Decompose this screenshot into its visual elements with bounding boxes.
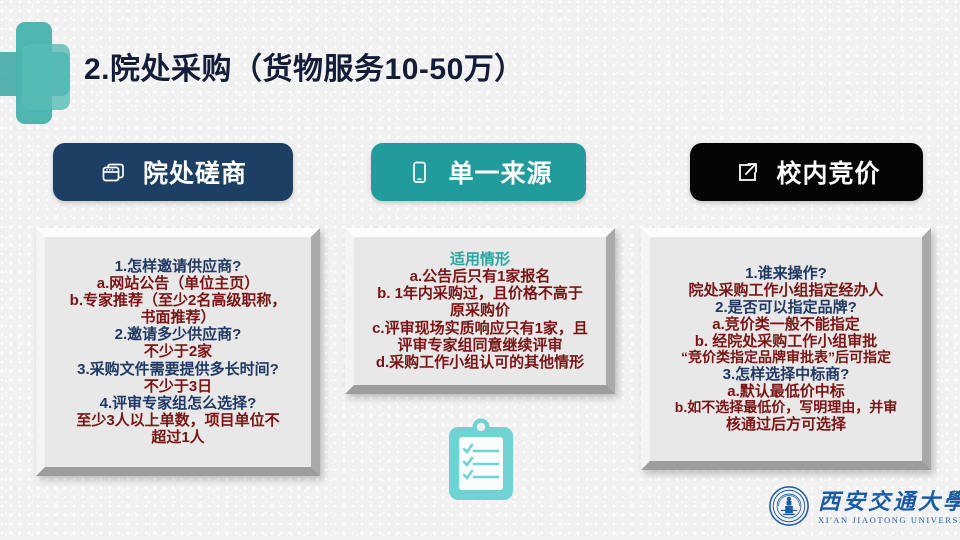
decoration-square: [22, 44, 70, 110]
panel-line: 院处采购工作小组指定经办人: [653, 282, 919, 299]
panel-line: 2.是否可以指定品牌?: [653, 299, 919, 316]
browser-windows-icon: [99, 157, 129, 187]
logo-chinese-name: 西安交通大學: [818, 491, 960, 513]
panel-line: 核通过后方可选择: [653, 416, 919, 433]
column-badge-label: 院处磋商: [143, 154, 247, 190]
panel-line: d.采购工作小组认可的其他情形: [357, 354, 603, 371]
panel-line: a.默认最低价中标: [653, 383, 919, 400]
content-panel-internal-bidding: 1.谁来操作? 院处采购工作小组指定经办人 2.是否可以指定品牌? a.竞价类一…: [641, 228, 931, 470]
panel-line: 3.怎样选择中标商?: [653, 366, 919, 383]
panel-line: b. 1年内采购过，且价格不高于: [357, 285, 603, 302]
column-badge-single-source[interactable]: 单一来源: [371, 143, 586, 201]
panel-line: “竞价类指定品牌审批表”后可指定: [653, 350, 919, 366]
clipboard-checklist-icon: [440, 418, 522, 504]
slide-canvas: 2.院处采购（货物服务10-50万） 院处磋商 单一来源: [0, 0, 960, 540]
panel-line: b. 经院处采购工作小组审批: [653, 333, 919, 350]
panel-line: 不少于2家: [48, 343, 308, 360]
panel-line: 书面推荐）: [48, 309, 308, 326]
panel-line: 1.谁来操作?: [653, 265, 919, 282]
panel-line: 原采购价: [357, 302, 603, 319]
panel-line: 1.怎样邀请供应商?: [48, 258, 308, 275]
column-badge-label: 单一来源: [448, 154, 552, 190]
panel-line: a.公告后只有1家报名: [357, 268, 603, 285]
panel-line: 适用情形: [357, 251, 603, 268]
column-badge-internal-bidding[interactable]: 校内竞价: [690, 143, 923, 201]
mobile-phone-icon: [404, 157, 434, 187]
panel-line: b.专家推荐（至少2名高级职称，: [48, 292, 308, 309]
panel-line: a.竞价类一般不能指定: [653, 316, 919, 333]
page-title: 2.院处采购（货物服务10-50万）: [84, 44, 525, 88]
panel-line: 至少3人以上单数，项目单位不: [48, 412, 308, 429]
column-badge-label: 校内竞价: [776, 154, 880, 190]
panel-line: 4.评审专家组怎么选择?: [48, 395, 308, 412]
teal-cross-decoration: [0, 22, 70, 124]
panel-line: 不少于3日: [48, 378, 308, 395]
logo-english-name: XI'AN JIAOTONG UNIVERSITY: [818, 516, 960, 525]
panel-line: a.网站公告（单位主页）: [48, 275, 308, 292]
panel-line: 3.采购文件需要提供多长时间?: [48, 361, 308, 378]
column-badge-negotiation[interactable]: 院处磋商: [53, 143, 293, 201]
logo-wordmark: 西安交通大學 XI'AN JIAOTONG UNIVERSITY: [818, 491, 960, 525]
panel-line: b.如不选择最低价，写明理由，并审: [653, 400, 919, 416]
panel-line: c.评审现场实质响应只有1家，且: [357, 320, 603, 337]
university-seal-icon: [768, 485, 810, 532]
panel-line: 2.邀请多少供应商?: [48, 326, 308, 343]
content-panel-negotiation: 1.怎样邀请供应商? a.网站公告（单位主页） b.专家推荐（至少2名高级职称，…: [36, 228, 320, 476]
content-panel-single-source: 适用情形 a.公告后只有1家报名 b. 1年内采购过，且价格不高于 原采购价 c…: [345, 228, 615, 394]
panel-line: 超过1人: [48, 429, 308, 446]
share-export-icon: [732, 157, 762, 187]
panel-line: 评审专家组同意继续评审: [357, 337, 603, 354]
xjtu-logo: 西安交通大學 XI'AN JIAOTONG UNIVERSITY: [768, 484, 948, 532]
